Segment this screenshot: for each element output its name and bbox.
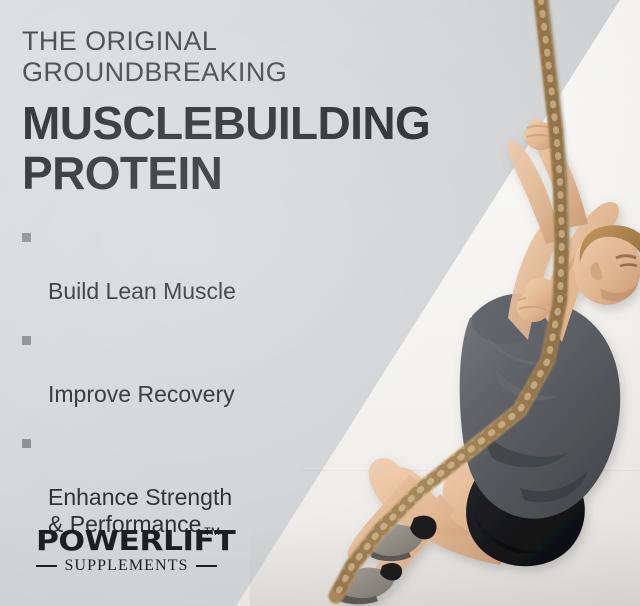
logo-subtitle: SUPPLEMENTS <box>64 558 188 574</box>
list-item: Improve Recovery <box>22 327 382 408</box>
list-item: Build Lean Muscle <box>22 224 382 305</box>
brand-logo: POWERLIFT TM SUPPLEMENTS <box>36 527 246 574</box>
logo-rule-right <box>196 565 217 567</box>
logo-rule-left <box>36 565 57 567</box>
benefit-label: Build Lean Muscle <box>48 278 236 304</box>
logo-subtitle-row: SUPPLEMENTS <box>36 558 217 574</box>
bullet-square-icon <box>22 233 31 242</box>
bullet-square-icon <box>22 336 31 345</box>
headline-text: MUSCLEBUILDING PROTEIN <box>22 98 382 198</box>
eyebrow-text: THE ORIGINAL GROUNDBREAKING <box>22 26 382 88</box>
benefits-list: Build Lean Muscle Improve Recovery Enhan… <box>22 224 382 538</box>
benefit-label: Improve Recovery <box>48 381 235 407</box>
trademark-symbol: TM <box>204 527 220 538</box>
promo-banner: THE ORIGINAL GROUNDBREAKING MUSCLEBUILDI… <box>0 0 640 606</box>
list-item: Enhance Strength & Performance <box>22 430 382 538</box>
logo-wordmark-row: POWERLIFT TM <box>36 527 246 554</box>
bullet-square-icon <box>22 439 31 448</box>
copy-block: THE ORIGINAL GROUNDBREAKING MUSCLEBUILDI… <box>22 26 382 538</box>
